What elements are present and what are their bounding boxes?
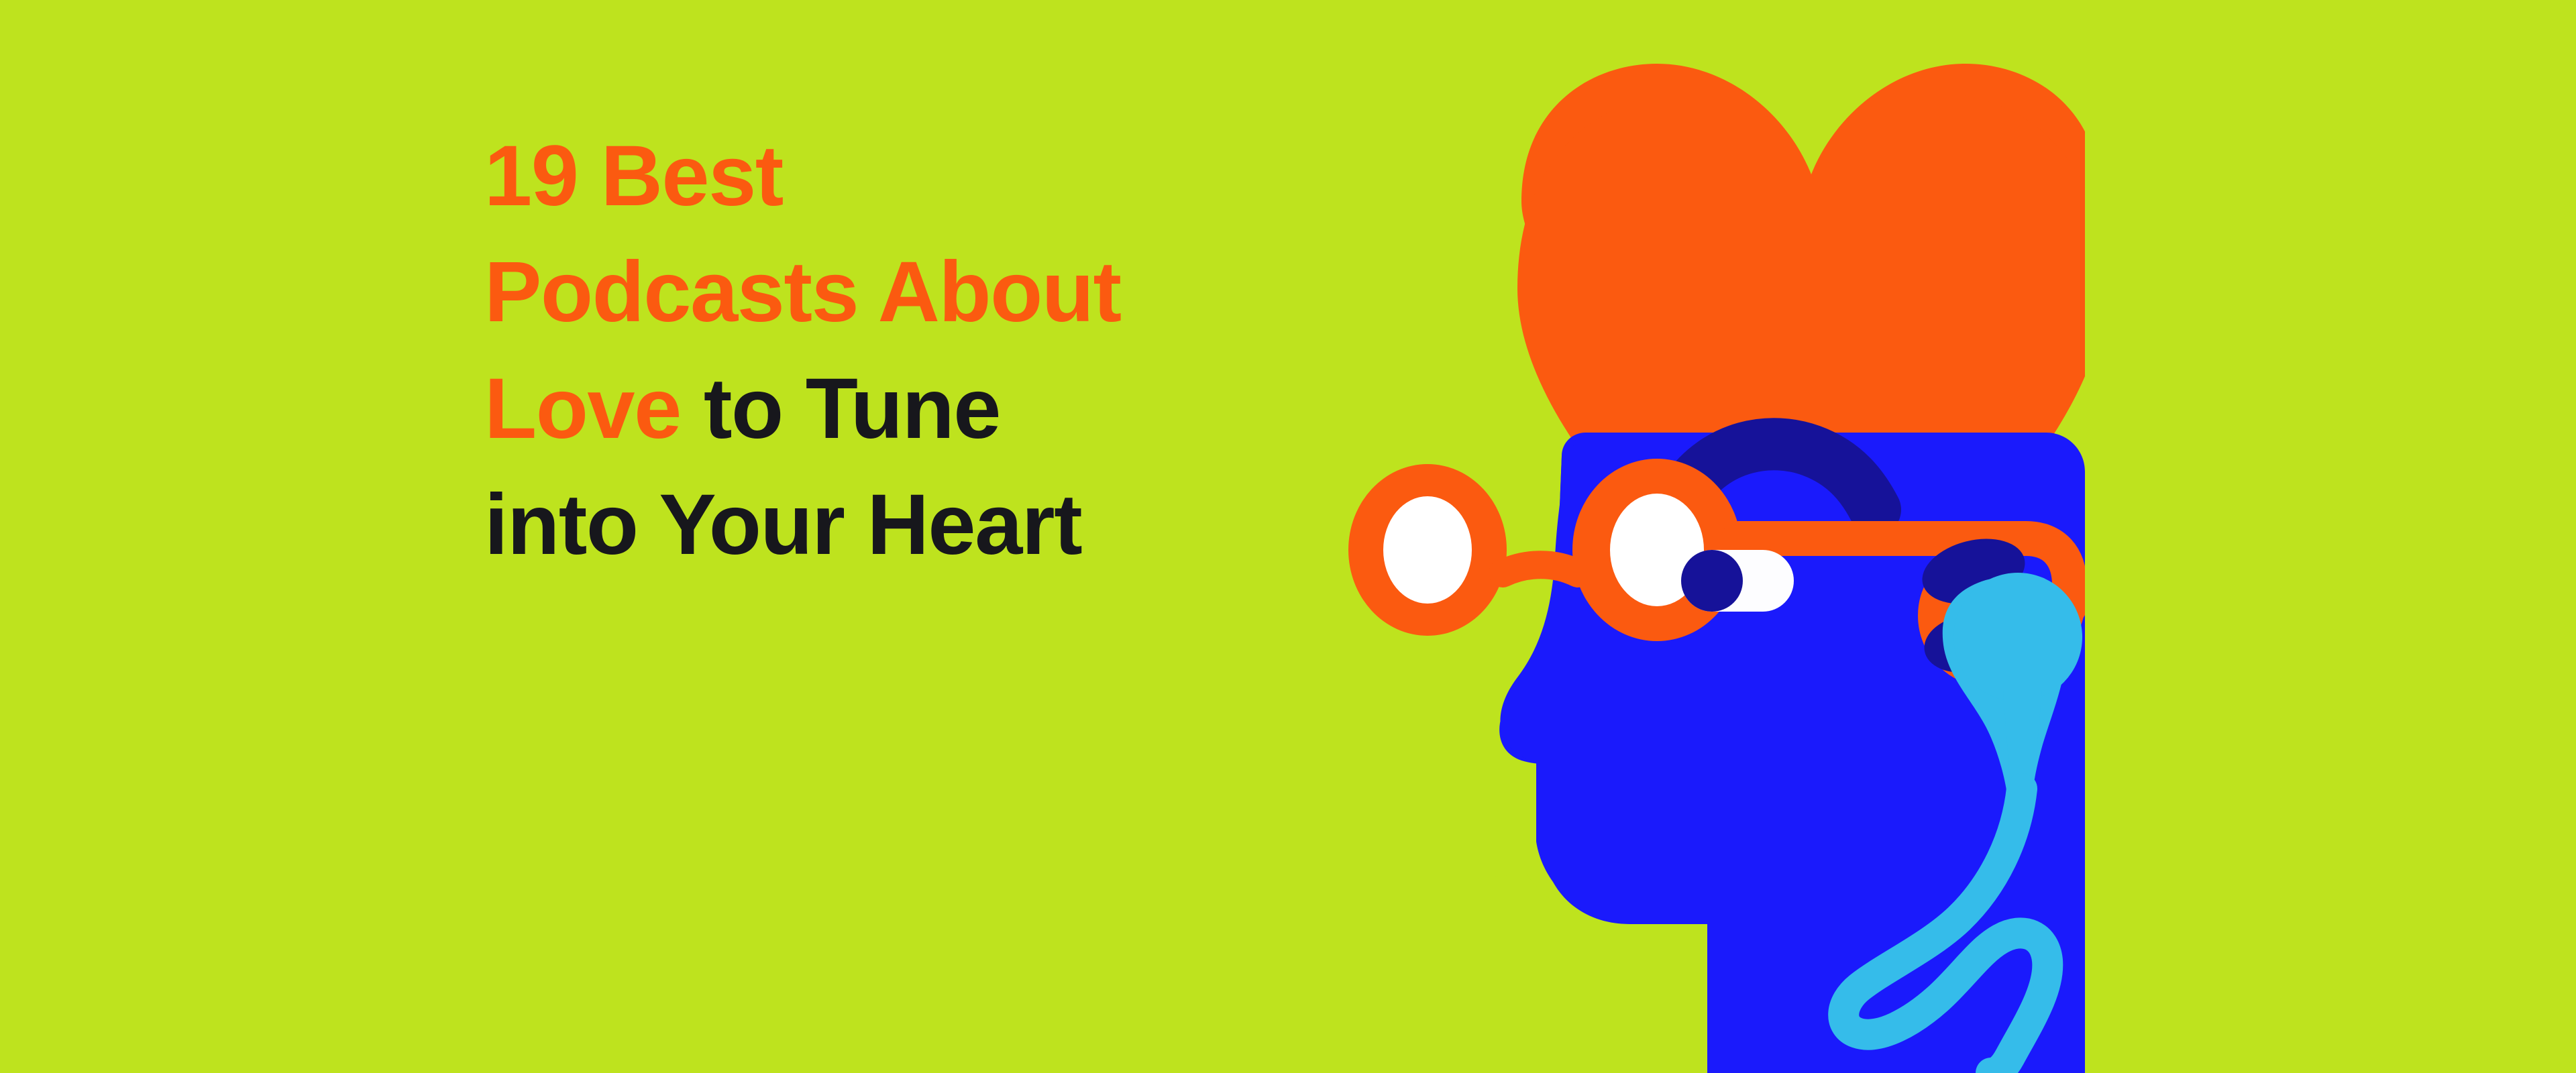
headline-line-2: Podcasts About <box>484 234 1323 350</box>
eye <box>1681 550 1794 612</box>
headline-plain-4: into Your Heart <box>484 477 1081 573</box>
headline-accent-3: Love <box>484 361 681 457</box>
headline-accent-1: 19 Best <box>484 128 783 224</box>
right-background <box>2085 0 2576 1073</box>
neck-left-background <box>0 924 1707 1073</box>
hero-banner: 19 Best Podcasts About Love to Tune into… <box>0 0 2576 1073</box>
headline-line-1: 19 Best <box>484 118 1323 234</box>
headline-accent-2: Podcasts About <box>484 244 1121 340</box>
headline-line-3: Love to Tune <box>484 351 1323 467</box>
page-title: 19 Best Podcasts About Love to Tune into… <box>484 118 1323 583</box>
headline-plain-3: to Tune <box>681 361 1000 457</box>
headline-line-4: into Your Heart <box>484 467 1323 583</box>
